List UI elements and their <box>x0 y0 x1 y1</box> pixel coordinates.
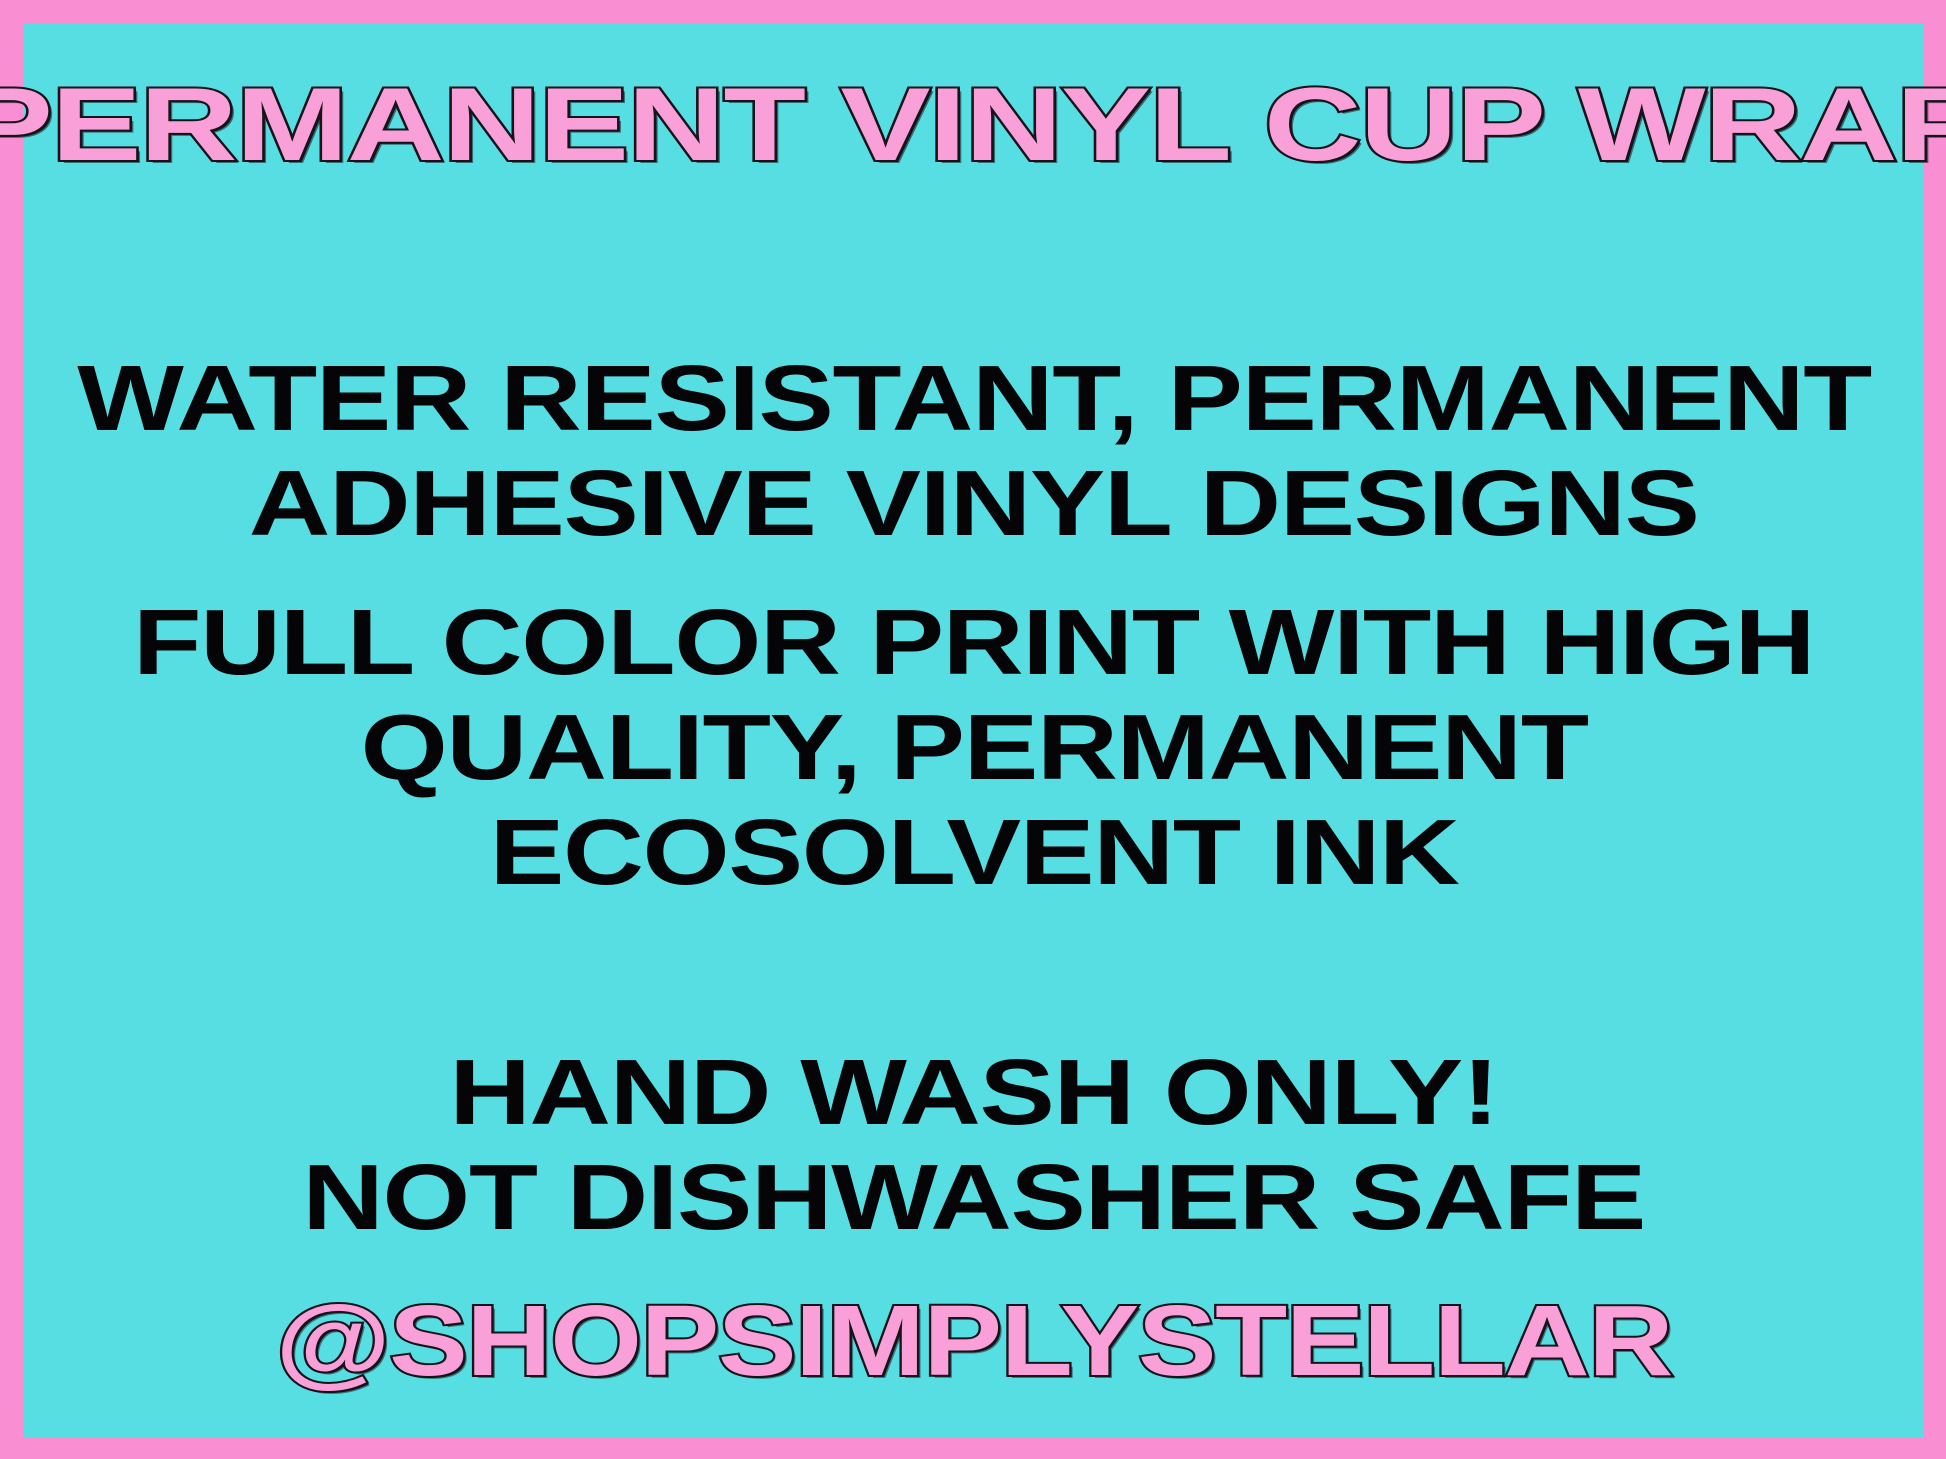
poster-title-row: PERMANENT VINYL CUP WRAP <box>24 70 1924 180</box>
poster-inner-panel: PERMANENT VINYL CUP WRAP WATER RESISTANT… <box>24 24 1924 1437</box>
feature-line: ECOSOLVENT INK <box>489 806 1458 899</box>
feature-line: ADHESIVE VINYL DESIGNS <box>249 457 1699 550</box>
feature-line: FULL COLOR PRINT WITH HIGH <box>133 596 1814 689</box>
poster-canvas: PERMANENT VINYL CUP WRAP WATER RESISTANT… <box>0 0 1946 1459</box>
feature-block-full-color-print: FULL COLOR PRINT WITH HIGH QUALITY, PERM… <box>24 596 1924 899</box>
feature-block-care-instructions: HAND WASH ONLY! NOT DISHWASHER SAFE <box>24 1046 1924 1244</box>
shop-handle-row: @SHOPSIMPLYSTELLAR <box>24 1286 1924 1396</box>
feature-block-water-resistant: WATER RESISTANT, PERMANENT ADHESIVE VINY… <box>24 352 1924 550</box>
feature-line: QUALITY, PERMANENT <box>360 701 1587 794</box>
feature-line: WATER RESISTANT, PERMANENT <box>77 352 1871 445</box>
shop-handle: @SHOPSIMPLYSTELLAR <box>276 1291 1673 1391</box>
feature-line: NOT DISHWASHER SAFE <box>303 1151 1646 1244</box>
feature-line: HAND WASH ONLY! <box>450 1046 1499 1139</box>
page-title: PERMANENT VINYL CUP WRAP <box>0 73 1946 177</box>
